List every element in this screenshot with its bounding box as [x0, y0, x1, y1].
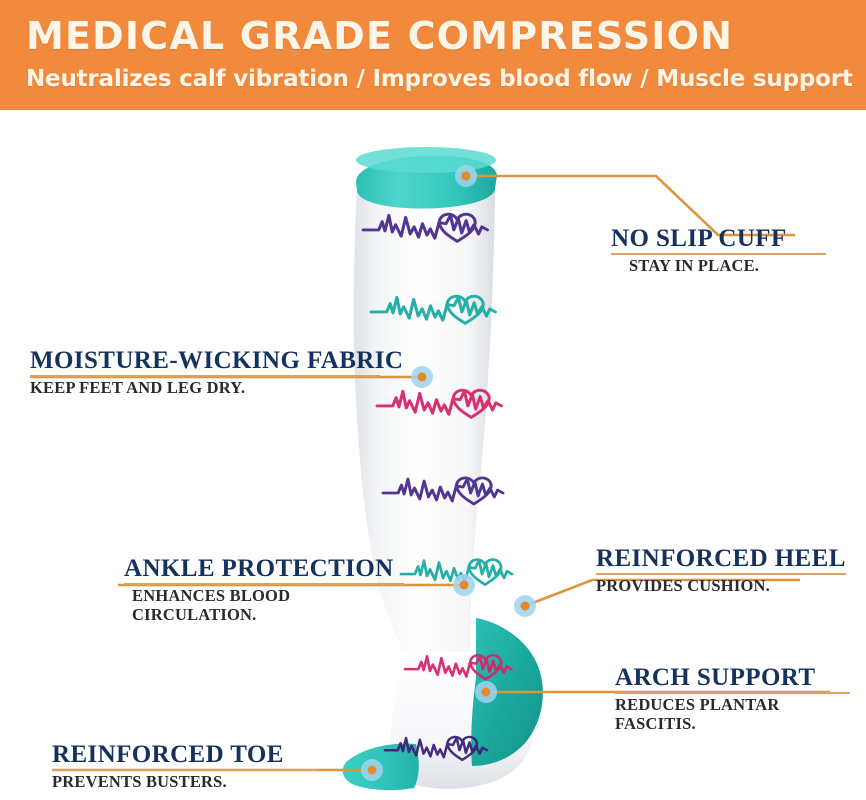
callout-reinforced-toe-desc: PREVENTS BUSTERS. — [52, 773, 317, 791]
banner-title: MEDICAL GRADE COMPRESSION — [26, 14, 733, 58]
callout-no-slip-cuff-rule — [611, 253, 826, 255]
callout-arch-support-title: ARCH SUPPORT — [615, 665, 850, 691]
callout-reinforced-heel-title: REINFORCED HEEL — [596, 546, 846, 572]
callout-arch-support: ARCH SUPPORT REDUCES PLANTAR FASCITIS. — [615, 665, 850, 733]
callout-ankle-protection: ANKLE PROTECTION ENHANCES BLOOD CIRCULAT… — [124, 556, 404, 624]
callout-no-slip-cuff-title: NO SLIP CUFF — [611, 226, 826, 252]
callout-ankle-protection-title: ANKLE PROTECTION — [124, 556, 404, 582]
marker-moisture-wicking — [411, 366, 433, 388]
callout-ankle-protection-desc: ENHANCES BLOOD CIRCULATION. — [124, 587, 404, 624]
callout-moisture-wicking-fabric-rule — [30, 375, 380, 377]
sock-toe — [343, 744, 419, 790]
sock-foot — [390, 652, 533, 789]
sock-heel — [471, 618, 543, 766]
heartbeat-pattern — [363, 214, 512, 760]
callout-moisture-wicking-fabric: MOISTURE-WICKING FABRIC KEEP FEET AND LE… — [30, 348, 380, 398]
callout-ankle-protection-rule — [124, 583, 404, 585]
callout-no-slip-cuff-desc: STAY IN PLACE. — [611, 257, 826, 275]
callout-arch-support-desc: REDUCES PLANTAR FASCITIS. — [615, 696, 850, 733]
callout-reinforced-heel-rule — [596, 573, 846, 575]
product-infographic: MEDICAL GRADE COMPRESSION Neutralizes ca… — [0, 0, 866, 800]
callout-moisture-wicking-fabric-desc: KEEP FEET AND LEG DRY. — [30, 379, 380, 397]
marker-reinforced-toe — [361, 759, 383, 781]
marker-arch-support — [475, 681, 497, 703]
marker-ankle-protection — [453, 574, 475, 596]
callout-reinforced-toe: REINFORCED TOE PREVENTS BUSTERS. — [52, 742, 317, 792]
marker-reinforced-heel — [514, 595, 536, 617]
marker-no-slip-cuff — [455, 165, 477, 187]
callout-moisture-wicking-fabric-title: MOISTURE-WICKING FABRIC — [30, 348, 380, 374]
callout-reinforced-heel-desc: PROVIDES CUSHION. — [596, 577, 846, 595]
header-banner: MEDICAL GRADE COMPRESSION Neutralizes ca… — [0, 0, 866, 110]
callout-no-slip-cuff: NO SLIP CUFF STAY IN PLACE. — [611, 226, 826, 276]
callout-arch-support-rule — [615, 692, 850, 694]
banner-subtitle: Neutralizes calf vibration / Improves bl… — [26, 66, 853, 92]
callout-reinforced-heel: REINFORCED HEEL PROVIDES CUSHION. — [596, 546, 846, 596]
callout-reinforced-toe-title: REINFORCED TOE — [52, 742, 317, 768]
sock-cuff — [356, 156, 497, 209]
callout-markers — [361, 165, 536, 781]
callout-reinforced-toe-rule — [52, 769, 317, 771]
cuff-top-opening — [356, 147, 496, 173]
